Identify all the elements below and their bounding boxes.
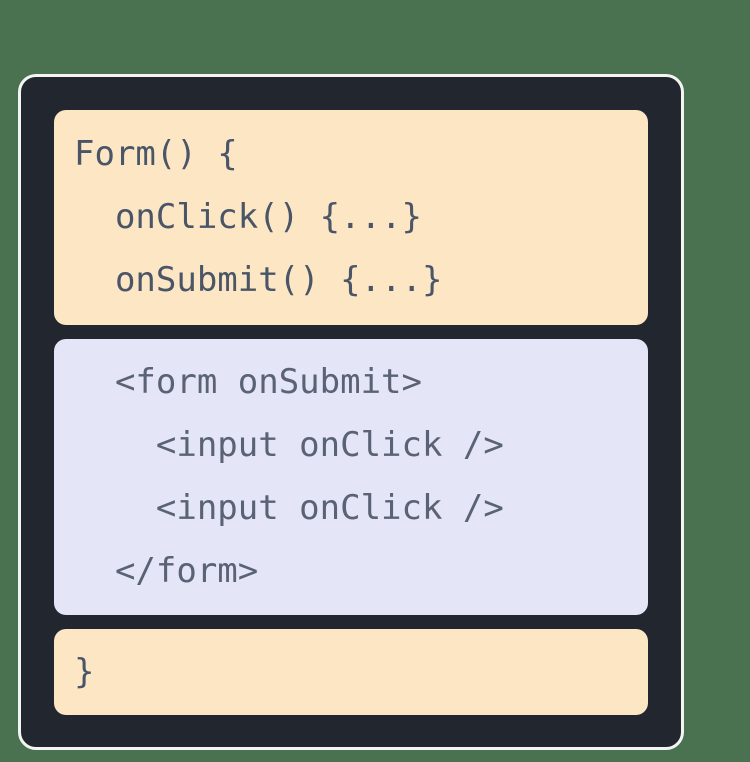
diagram-canvas: Form() { onClick() {...} onSubmit() {...… (0, 0, 750, 762)
code-line: <form onSubmit> (74, 351, 628, 414)
code-panel-component-header: Form() { onClick() {...} onSubmit() {...… (54, 110, 648, 325)
code-line: <input onClick /> (74, 414, 628, 477)
code-line: <input onClick /> (74, 477, 628, 540)
code-card: Form() { onClick() {...} onSubmit() {...… (18, 74, 684, 750)
code-panel-component-footer: } (54, 629, 648, 715)
code-line: onClick() {...} (74, 186, 628, 249)
code-line: </form> (74, 540, 628, 603)
code-panel-markup-body: <form onSubmit> <input onClick /> <input… (54, 339, 648, 615)
code-line: onSubmit() {...} (74, 249, 628, 312)
code-line: } (74, 641, 628, 704)
code-line: Form() { (74, 123, 628, 186)
